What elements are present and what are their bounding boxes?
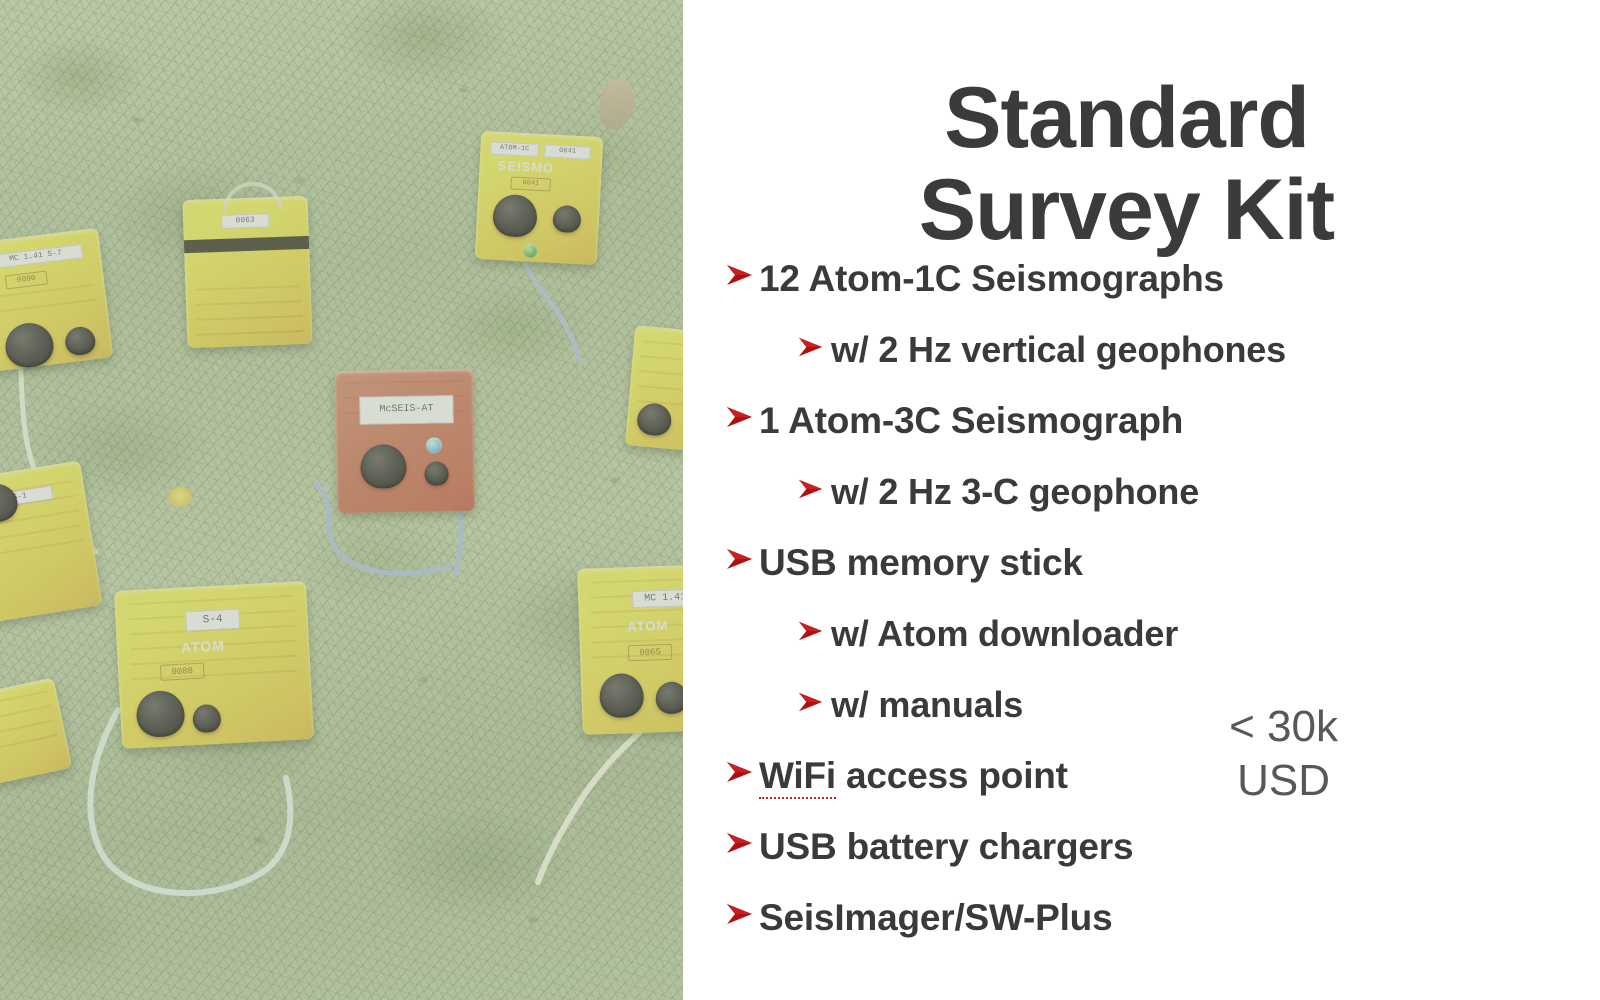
- list-item-label: USB memory stick: [759, 542, 1083, 584]
- seismograph-unit-mc141: MC 1.41 ATOM 0065: [577, 563, 683, 735]
- unit-label-tag: MC 1.41 S-7: [0, 244, 83, 269]
- list-item: WiFi access point: [725, 755, 1584, 826]
- arrowhead-bullet-icon: [725, 545, 759, 573]
- aux-connector: [64, 325, 97, 356]
- unit-serial-tag: 0041: [544, 144, 591, 159]
- case-ribs: [636, 340, 683, 410]
- list-item-label: w/ 2 Hz vertical geophones: [831, 329, 1286, 371]
- unit-serial-0088: 0088: [160, 663, 205, 681]
- list-item: 12 Atom-1C Seismographs: [725, 258, 1584, 329]
- status-led-blue: [426, 437, 442, 453]
- seismograph-unit-s4: S-4 ATOM 0088: [114, 581, 314, 749]
- list-item: w/ 2 Hz vertical geophones: [725, 329, 1584, 400]
- unit-stamp: 0090: [5, 271, 48, 290]
- status-led-green: [523, 243, 538, 258]
- case-ribs: [0, 690, 58, 756]
- seismograph-unit-top-middle: 0063: [182, 196, 312, 348]
- mcseis-at-label: McSEIS-AT: [359, 395, 453, 425]
- arrowhead-bullet-icon: [725, 900, 759, 928]
- price-amount: < 30k: [1229, 700, 1338, 754]
- list-item-label: 12 Atom-1C Seismographs: [759, 258, 1224, 300]
- price-annotation: < 30k USD: [1229, 700, 1338, 807]
- aux-connector: [424, 461, 448, 485]
- brand-text: ATOM: [627, 618, 669, 634]
- list-item: w/ Atom downloader: [725, 613, 1584, 684]
- list-item: w/ manuals: [725, 684, 1584, 755]
- content-panel: Standard Survey Kit 12 Atom-1C Seismogra…: [683, 0, 1600, 1000]
- unit-label-mc141: MC 1.41: [632, 589, 683, 608]
- list-item: USB battery chargers: [725, 826, 1584, 897]
- arrowhead-bullet-icon: [797, 689, 831, 715]
- geophone-connector: [3, 320, 56, 370]
- brand-text: ATOM: [181, 637, 226, 655]
- geophone-connector: [636, 402, 673, 437]
- geophone-connector: [492, 194, 538, 238]
- list-item-label: w/ 2 Hz 3-C geophone: [831, 471, 1199, 513]
- photo-stage: 0063 ATOM-1C 0041 SEISMO 0041 MC 1.41 S-…: [0, 0, 683, 1000]
- arrowhead-bullet-icon: [725, 403, 759, 431]
- unit-label-tag: ATOM-1C: [490, 141, 539, 156]
- arrowhead-bullet-icon: [725, 829, 759, 857]
- list-item: 1 Atom-3C Seismograph: [725, 400, 1584, 471]
- page-title: Standard Survey Kit: [683, 72, 1570, 256]
- geophone-connector: [360, 444, 407, 489]
- brand-text: SEISMO: [497, 158, 554, 176]
- list-item-label: w/ Atom downloader: [831, 613, 1178, 655]
- kit-contents-list: 12 Atom-1C Seismographs w/ 2 Hz vertical…: [725, 258, 1584, 968]
- arrowhead-bullet-icon: [797, 334, 831, 360]
- arrowhead-bullet-icon: [725, 261, 759, 289]
- page-title-line-2: Survey Kit: [683, 164, 1570, 256]
- arrowhead-bullet-icon: [797, 476, 831, 502]
- aux-connector: [552, 205, 581, 233]
- misspelled-word: WiFi: [759, 755, 836, 799]
- slide-root: 0063 ATOM-1C 0041 SEISMO 0041 MC 1.41 S-…: [0, 0, 1600, 1000]
- arrowhead-bullet-icon: [797, 618, 831, 644]
- list-item-label: 1 Atom-3C Seismograph: [759, 400, 1183, 442]
- seismograph-unit-right-middle: [625, 325, 683, 454]
- list-item: w/ 2 Hz 3-C geophone: [725, 471, 1584, 542]
- aux-connector: [192, 704, 221, 733]
- unit-serial-0065: 0065: [628, 644, 673, 662]
- case-ribs: [194, 285, 303, 339]
- seismograph-unit-top-right: ATOM-1C 0041 SEISMO 0041: [475, 131, 604, 265]
- geophone-connector: [599, 673, 645, 719]
- seismograph-unit-left-upper: MC 1.41 S-7 0090: [0, 228, 113, 374]
- geophone-connector: [135, 690, 185, 738]
- list-item-label: USB battery chargers: [759, 826, 1133, 868]
- black-tape-band: [184, 236, 309, 253]
- list-item: SeisImager/SW-Plus: [725, 897, 1584, 968]
- unit-label-tag: 0063: [221, 213, 269, 229]
- list-item-label: SeisImager/SW-Plus: [759, 897, 1112, 939]
- list-item-label-rest: access point: [836, 755, 1068, 796]
- unit-stamp: 0041: [510, 177, 551, 192]
- survey-equipment-photo: 0063 ATOM-1C 0041 SEISMO 0041 MC 1.41 S-…: [0, 0, 683, 1000]
- list-item-label: w/ manuals: [831, 684, 1023, 726]
- list-item: USB memory stick: [725, 542, 1584, 613]
- arrowhead-bullet-icon: [725, 758, 759, 786]
- unit-label-s4: S-4: [185, 609, 240, 632]
- mcseis-at-unit-red: McSEIS-AT: [335, 369, 475, 513]
- case-ribs: [0, 283, 98, 326]
- page-title-line-1: Standard: [683, 72, 1570, 164]
- price-currency: USD: [1229, 754, 1338, 808]
- list-item-label-wifi: WiFi access point: [759, 755, 1068, 797]
- aux-connector: [655, 681, 683, 714]
